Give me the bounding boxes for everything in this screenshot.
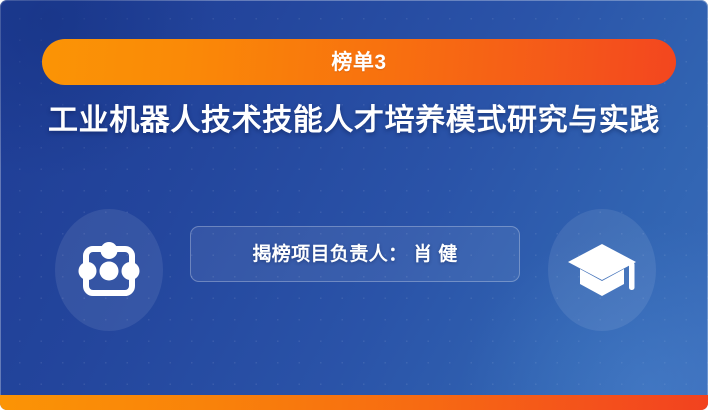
project-leader-text: 揭榜项目负责人： 肖 健	[252, 245, 457, 264]
page-title: 工业机器人技术技能人才培养模式研究与实践	[0, 101, 708, 141]
graduation-cap-icon	[566, 236, 638, 304]
robot-icon	[74, 235, 144, 305]
rank-banner: 榜单3	[42, 39, 676, 85]
bottom-accent-bar	[0, 395, 708, 410]
rank-banner-label: 榜单3	[331, 52, 386, 73]
graduation-cap-medallion	[548, 209, 656, 331]
award-poster-card: 榜单3 工业机器人技术技能人才培养模式研究与实践 揭榜项目负责人： 肖 健	[0, 0, 708, 410]
corner-glow-top-left	[0, 0, 220, 180]
robot-medallion	[55, 209, 163, 331]
project-leader-box: 揭榜项目负责人： 肖 健	[190, 226, 520, 282]
